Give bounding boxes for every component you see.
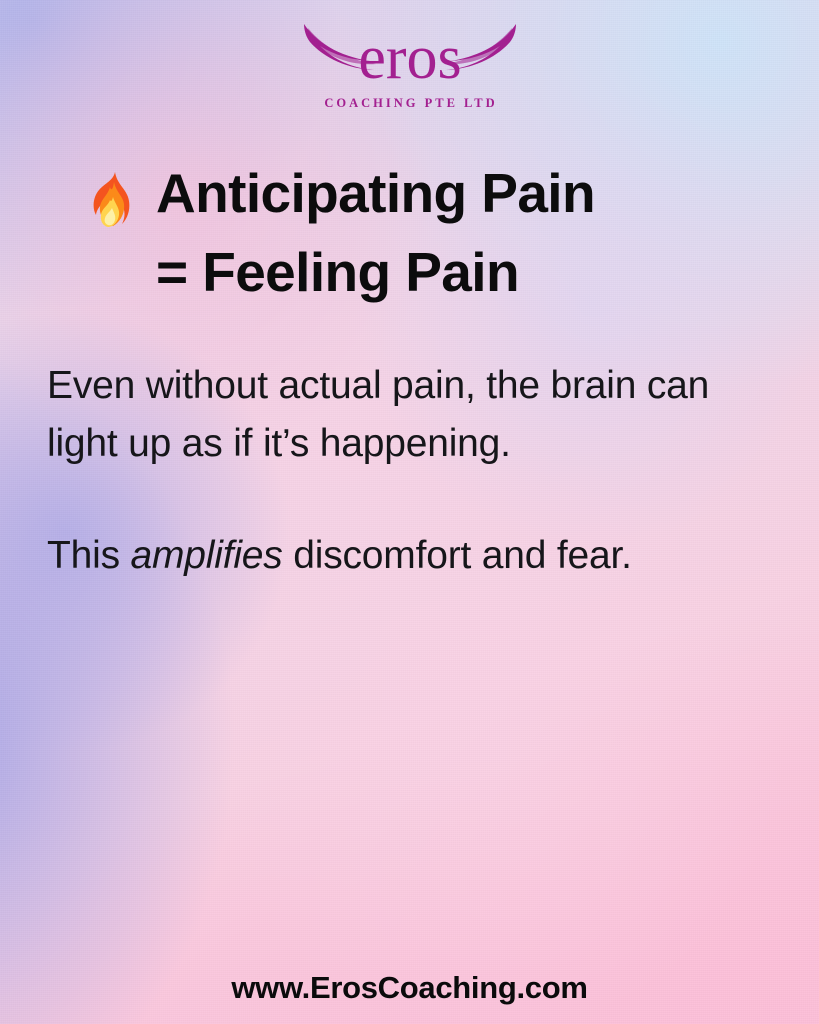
footer-website-url[interactable]: www.ErosCoaching.com (0, 970, 819, 1006)
headline-block: Anticipating Pain = Feeling Pain (84, 160, 784, 312)
poster-canvas: eros COACHING PTE LTD Anticipating Pain … (0, 0, 819, 1024)
logo-tagline: COACHING PTE LTD (321, 96, 497, 111)
paragraph-spacer (47, 473, 777, 527)
logo-wordmark-text: eros (358, 24, 461, 92)
body-paragraph-2: This amplifies discomfort and fear. (47, 527, 777, 585)
body-paragraph-2-prefix: This (47, 534, 131, 577)
brand-logo: eros COACHING PTE LTD (0, 8, 819, 111)
body-copy-block: Even without actual pain, the brain can … (47, 357, 777, 585)
eros-wordmark-with-wings: eros (290, 8, 530, 94)
headline-text: Anticipating Pain = Feeling Pain (156, 154, 595, 312)
body-paragraph-2-emphasis: amplifies (131, 534, 283, 577)
fire-emoji-icon (84, 170, 140, 234)
body-paragraph-1: Even without actual pain, the brain can … (47, 357, 777, 473)
body-paragraph-2-suffix: discomfort and fear. (283, 534, 632, 577)
